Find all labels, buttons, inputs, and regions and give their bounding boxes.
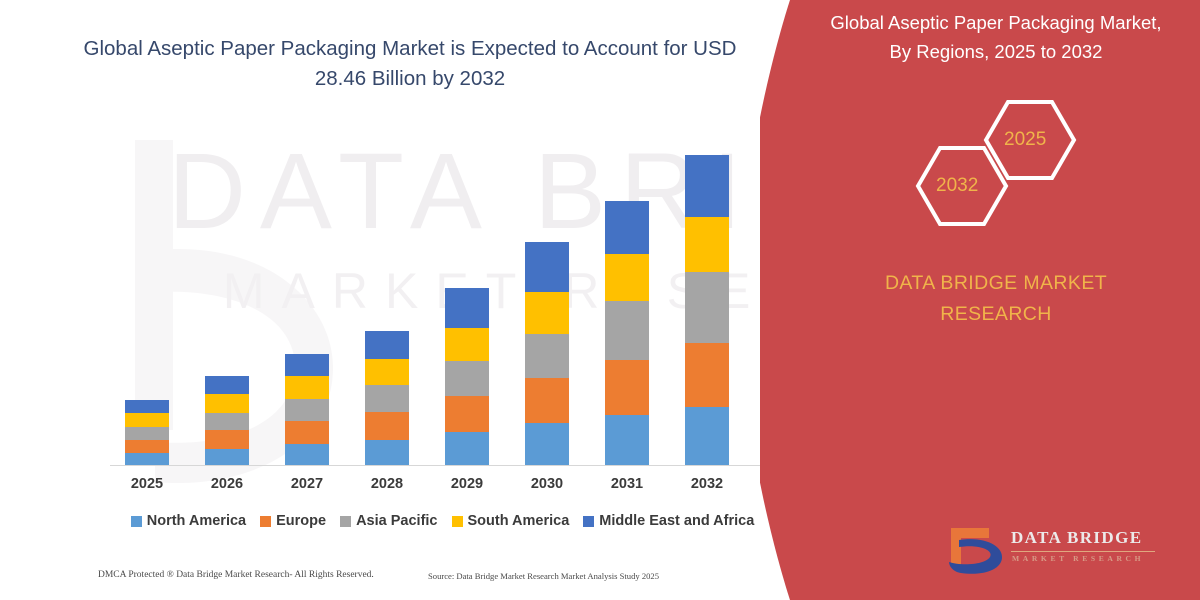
bar-segment[interactable] — [685, 407, 729, 466]
x-axis-label-2029: 2029 — [427, 476, 507, 492]
bar-column-2026[interactable] — [205, 376, 249, 466]
legend-label: North America — [147, 513, 246, 529]
legend-label: Europe — [276, 513, 326, 529]
bar-column-2028[interactable] — [365, 331, 409, 466]
bar-column-2032[interactable] — [685, 155, 729, 466]
brand-line1: DATA BRIDGE MARKET — [885, 272, 1107, 294]
stacked-bar-chart — [110, 120, 770, 466]
page-title: Global Aseptic Paper Packaging Market is… — [60, 34, 760, 94]
infographic-canvas: DATA BRIDGE MARKET RESEARCH Global Asept… — [0, 0, 1200, 600]
hexagon-outlines — [900, 96, 1100, 236]
bar-segment[interactable] — [605, 301, 649, 360]
bar-segment[interactable] — [205, 376, 249, 394]
bar-column-2025[interactable] — [125, 400, 169, 466]
bar-segment[interactable] — [445, 328, 489, 361]
bar-segment[interactable] — [365, 331, 409, 359]
bar-segment[interactable] — [205, 394, 249, 413]
legend-swatch-icon — [260, 516, 271, 527]
legend-swatch-icon — [340, 516, 351, 527]
panel-title-line1: Global Aseptic Paper Packaging — [830, 12, 1094, 33]
hexagon-label-2032: 2032 — [936, 175, 978, 197]
bar-segment[interactable] — [525, 334, 569, 378]
page-title-line1: Global Aseptic Paper Packaging Market is… — [84, 37, 658, 60]
x-axis-label-2030: 2030 — [507, 476, 587, 492]
bar-segment[interactable] — [685, 217, 729, 272]
bar-segment[interactable] — [445, 288, 489, 328]
bar-segment[interactable] — [285, 354, 329, 376]
brand-line2: RESEARCH — [940, 303, 1052, 325]
bar-segment[interactable] — [285, 444, 329, 466]
panel-title: Global Aseptic Paper Packaging Market, B… — [820, 8, 1172, 66]
bar-segment[interactable] — [365, 359, 409, 385]
legend-swatch-icon — [452, 516, 463, 527]
legend-item[interactable]: Middle East and Africa — [583, 513, 754, 529]
hexagon-label-2025: 2025 — [1004, 129, 1046, 151]
hexagon-badges: 2025 2032 — [900, 96, 1100, 236]
legend-label: Asia Pacific — [356, 513, 437, 529]
x-axis-label-2025: 2025 — [107, 476, 187, 492]
bar-segment[interactable] — [365, 440, 409, 466]
bar-segment[interactable] — [685, 272, 729, 343]
bar-segment[interactable] — [285, 376, 329, 399]
bar-segment[interactable] — [205, 413, 249, 430]
bar-segment[interactable] — [125, 440, 169, 453]
bar-segment[interactable] — [525, 242, 569, 292]
bar-segment[interactable] — [445, 396, 489, 432]
logo-text-main: DATA BRIDGE — [1011, 528, 1142, 548]
x-axis-label-2026: 2026 — [187, 476, 267, 492]
bar-segment[interactable] — [605, 415, 649, 466]
x-axis-label-2027: 2027 — [267, 476, 347, 492]
legend-item[interactable]: Europe — [260, 513, 326, 529]
bar-segment[interactable] — [205, 449, 249, 466]
bar-column-2029[interactable] — [445, 288, 489, 466]
bar-segment[interactable] — [445, 432, 489, 466]
legend-item[interactable]: South America — [452, 513, 570, 529]
bar-segment[interactable] — [285, 399, 329, 421]
legend-swatch-icon — [583, 516, 594, 527]
bar-segment[interactable] — [605, 254, 649, 301]
x-axis-label-2031: 2031 — [587, 476, 667, 492]
bar-segment[interactable] — [125, 427, 169, 440]
brand-panel: Global Aseptic Paper Packaging Market, B… — [760, 0, 1200, 600]
chart-legend: North AmericaEuropeAsia PacificSouth Ame… — [110, 513, 775, 529]
bar-segment[interactable] — [605, 360, 649, 415]
legend-item[interactable]: Asia Pacific — [340, 513, 437, 529]
bar-segment[interactable] — [685, 155, 729, 217]
logo-divider — [1011, 551, 1155, 552]
legend-label: South America — [468, 513, 570, 529]
bar-segment[interactable] — [285, 421, 329, 444]
data-bridge-logo: DATA BRIDGE MARKET RESEARCH — [945, 520, 1160, 582]
x-axis-label-2028: 2028 — [347, 476, 427, 492]
bar-column-2027[interactable] — [285, 354, 329, 466]
bar-segment[interactable] — [605, 201, 649, 254]
legend-swatch-icon — [131, 516, 142, 527]
logo-mark-icon — [945, 522, 1007, 578]
bar-segment[interactable] — [685, 343, 729, 407]
bar-segment[interactable] — [205, 430, 249, 449]
bar-segment[interactable] — [525, 292, 569, 334]
bar-segment[interactable] — [365, 412, 409, 440]
x-axis-labels: 20252026202720282029203020312032 — [110, 476, 770, 498]
x-axis-label-2032: 2032 — [667, 476, 747, 492]
footer-copyright: DMCA Protected ® Data Bridge Market Rese… — [98, 570, 374, 580]
brand-name: DATA BRIDGE MARKET RESEARCH — [820, 268, 1172, 330]
bar-segment[interactable] — [525, 378, 569, 423]
bar-segment[interactable] — [525, 423, 569, 466]
footer-source: Source: Data Bridge Market Research Mark… — [428, 571, 659, 581]
bar-segment[interactable] — [445, 361, 489, 396]
legend-item[interactable]: North America — [131, 513, 246, 529]
x-axis-line — [110, 465, 775, 466]
bar-segment[interactable] — [365, 385, 409, 412]
bar-column-2031[interactable] — [605, 201, 649, 466]
bar-column-2030[interactable] — [525, 242, 569, 466]
legend-label: Middle East and Africa — [599, 513, 754, 529]
bar-segment[interactable] — [125, 413, 169, 427]
bar-segment[interactable] — [125, 400, 169, 413]
logo-text-sub: MARKET RESEARCH — [1012, 554, 1144, 563]
